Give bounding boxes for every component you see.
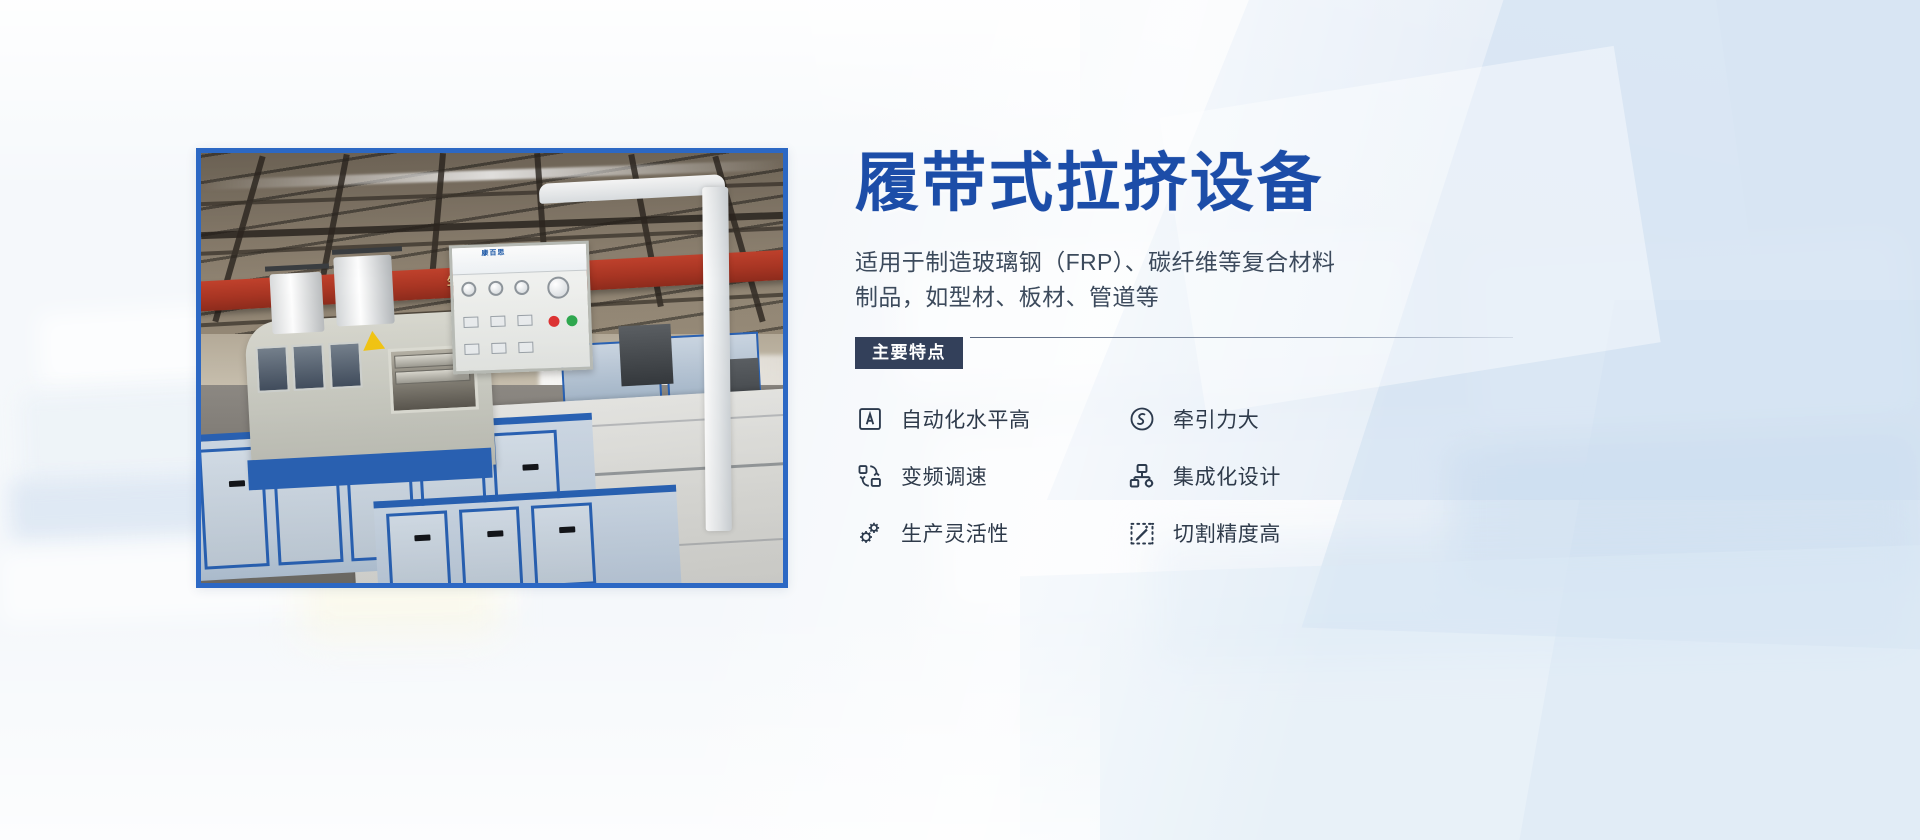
feature-item-precision[interactable]: 切割精度高 — [1127, 518, 1399, 548]
gantry-post — [703, 187, 733, 531]
section-badge: 主要特点 — [855, 337, 963, 369]
cabinet-handle — [522, 464, 538, 471]
feature-label: 牵引力大 — [1173, 404, 1259, 434]
section-badge-row: 主要特点 — [855, 337, 1495, 371]
feature-label: 集成化设计 — [1173, 461, 1281, 491]
cabinet-row-lower — [373, 484, 681, 583]
panel-button — [465, 344, 480, 356]
cabinet — [458, 506, 523, 583]
panel-gauge — [488, 281, 504, 297]
control-panel: 康百思 — [449, 241, 593, 375]
banner-description: 适用于制造玻璃钢（FRP）、碳纤维等复合材料制品，如型材、板材、管道等 — [855, 245, 1355, 316]
feature-list: 自动化水平高 牵引力大 变频 — [855, 404, 1495, 548]
panel-stop-button — [548, 316, 559, 327]
product-photo-card[interactable]: 生产 — [196, 148, 788, 588]
panel-gauge — [515, 280, 531, 296]
panel-button — [464, 317, 479, 329]
warning-triangle-icon — [361, 331, 385, 352]
panel-button — [518, 342, 533, 354]
panel-start-button — [567, 316, 578, 327]
feature-item-flexibility[interactable]: 生产灵活性 — [855, 518, 1127, 548]
machine-window — [255, 345, 289, 393]
cabinet — [531, 502, 596, 583]
hydraulic-cylinder — [269, 272, 324, 335]
cabinet-handle — [229, 480, 245, 487]
control-panel-header: 康百思 — [452, 244, 587, 276]
background-machine-dark — [618, 324, 673, 387]
gears-flexibility-icon — [855, 518, 885, 548]
panel-button — [517, 315, 532, 327]
panel-gauge-large — [547, 277, 570, 300]
machine-window — [291, 344, 325, 392]
banner-title: 履带式拉挤设备 — [855, 150, 1495, 218]
feature-label: 自动化水平高 — [901, 404, 1031, 434]
integrated-design-icon — [1127, 461, 1157, 491]
cabinet-handle — [486, 530, 502, 537]
precision-cut-pen-icon — [1127, 518, 1157, 548]
hydraulic-cylinder — [333, 255, 395, 327]
panel-button — [491, 316, 506, 328]
machine-window — [328, 342, 362, 390]
cabinet — [386, 510, 451, 583]
panel-brand-label: 康百思 — [482, 248, 506, 259]
frequency-speed-icon — [855, 461, 885, 491]
feature-label: 切割精度高 — [1173, 518, 1281, 548]
factory-photo: 生产 — [201, 153, 783, 583]
feature-item-frequency[interactable]: 变频调速 — [855, 461, 1127, 491]
banner-content: 履带式拉挤设备 适用于制造玻璃钢（FRP）、碳纤维等复合材料制品，如型材、板材、… — [855, 150, 1495, 548]
feature-item-integrated[interactable]: 集成化设计 — [1127, 461, 1399, 491]
feature-label: 变频调速 — [901, 461, 987, 491]
cabinet-handle — [414, 534, 430, 541]
traction-spiral-icon — [1127, 404, 1157, 434]
feature-label: 生产灵活性 — [901, 518, 1009, 548]
panel-gauge — [461, 282, 477, 298]
feature-item-traction[interactable]: 牵引力大 — [1127, 404, 1399, 434]
cabinet-handle — [559, 526, 575, 533]
panel-button — [492, 343, 507, 355]
feature-item-automation[interactable]: 自动化水平高 — [855, 404, 1127, 434]
automation-frame-a-icon — [855, 404, 885, 434]
section-divider-line — [970, 337, 1513, 338]
